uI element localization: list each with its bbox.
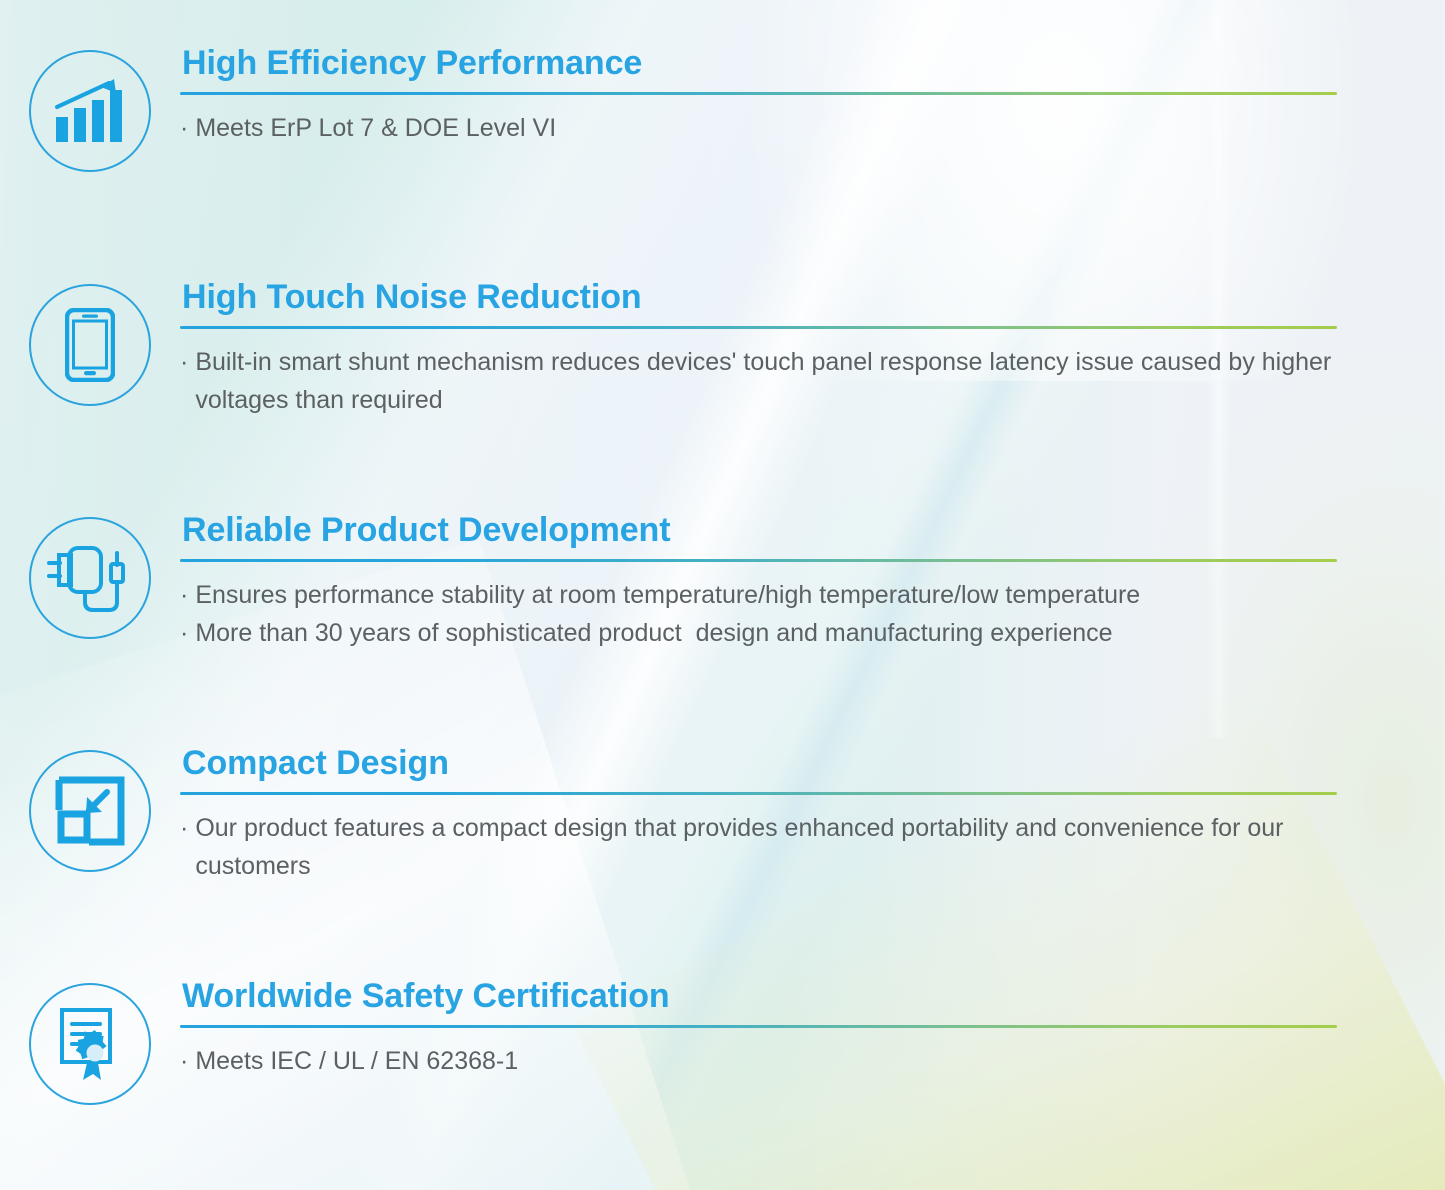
bullet-text: Meets ErP Lot 7 & DOE Level VI [195,109,1385,147]
feature-title: Worldwide Safety Certification [180,979,1385,1015]
bar-chart-growth-icon [52,76,128,146]
icon-circle-frame [29,284,151,406]
feature-item-high-touch-noise-reduction: High Touch Noise Reduction · Built-in sm… [0,280,1445,419]
feature-body: Reliable Product Development · Ensures p… [180,513,1445,652]
feature-bullet-list: · Meets IEC / UL / EN 62368-1 [180,1042,1385,1080]
feature-divider-rule [180,326,1337,329]
feature-item-compact-design: Compact Design · Our product features a … [0,746,1445,885]
feature-icon-container [0,46,180,172]
bullet-marker: · [180,614,188,652]
bullet-item: · Meets ErP Lot 7 & DOE Level VI [180,109,1385,147]
feature-divider-rule [180,1025,1337,1028]
icon-circle-frame [29,983,151,1105]
bullet-item: · Ensures performance stability at room … [180,576,1385,614]
bullet-marker: · [180,1042,188,1080]
icon-circle-frame [29,750,151,872]
feature-bullet-list: · Our product features a compact design … [180,809,1385,885]
feature-bullet-list: · Built-in smart shunt mechanism reduces… [180,343,1385,419]
bullet-text: Ensures performance stability at room te… [195,576,1385,614]
feature-icon-container [0,280,180,406]
feature-body: High Touch Noise Reduction · Built-in sm… [180,280,1445,419]
icon-circle-frame [29,50,151,172]
feature-title: Reliable Product Development [180,513,1385,549]
feature-icon-container [0,746,180,872]
bullet-item: · More than 30 years of sophisticated pr… [180,614,1385,652]
feature-item-worldwide-safety-certification: Worldwide Safety Certification · Meets I… [0,979,1445,1105]
bullet-marker: · [180,343,188,381]
bullet-text: Built-in smart shunt mechanism reduces d… [195,343,1385,419]
feature-icon-container [0,513,180,639]
power-adapter-icon [47,540,133,616]
compact-resize-icon [55,776,125,846]
bullet-marker: · [180,809,188,847]
feature-bullet-list: · Ensures performance stability at room … [180,576,1385,652]
feature-body: Compact Design · Our product features a … [180,746,1445,885]
feature-item-reliable-product-development: Reliable Product Development · Ensures p… [0,513,1445,652]
bullet-text: Our product features a compact design th… [195,809,1385,885]
bullet-item: · Meets IEC / UL / EN 62368-1 [180,1042,1385,1080]
feature-body: Worldwide Safety Certification · Meets I… [180,979,1445,1080]
feature-item-high-efficiency-performance: High Efficiency Performance · Meets ErP … [0,46,1445,172]
bullet-text: More than 30 years of sophisticated prod… [195,614,1385,652]
feature-title: Compact Design [180,746,1385,782]
icon-circle-frame [29,517,151,639]
certificate-seal-icon [54,1006,126,1082]
bullet-text: Meets IEC / UL / EN 62368-1 [195,1042,1385,1080]
feature-icon-container [0,979,180,1105]
feature-list: High Efficiency Performance · Meets ErP … [0,0,1445,1190]
bullet-marker: · [180,109,188,147]
feature-divider-rule [180,792,1337,795]
feature-body: High Efficiency Performance · Meets ErP … [180,46,1445,147]
bullet-item: · Our product features a compact design … [180,809,1385,885]
feature-title: High Touch Noise Reduction [180,280,1385,316]
bullet-item: · Built-in smart shunt mechanism reduces… [180,343,1385,419]
smartphone-icon [65,308,115,382]
feature-title: High Efficiency Performance [180,46,1385,82]
bullet-marker: · [180,576,188,614]
feature-divider-rule [180,559,1337,562]
feature-bullet-list: · Meets ErP Lot 7 & DOE Level VI [180,109,1385,147]
feature-divider-rule [180,92,1337,95]
